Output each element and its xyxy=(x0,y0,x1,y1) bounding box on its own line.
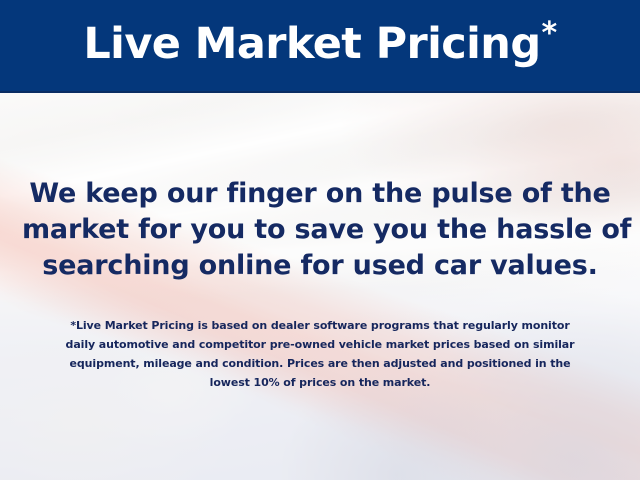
live-market-pricing-banner: Live Market Pricing* We keep our finger … xyxy=(0,0,640,480)
banner-title-asterisk: * xyxy=(542,16,557,51)
disclaimer-line-3: equipment, mileage and condition. Prices… xyxy=(26,354,614,373)
headline: We keep our finger on the pulse of the m… xyxy=(22,176,618,284)
banner-title: Live Market Pricing* xyxy=(83,23,556,68)
headline-line-2: market for you to save you the hassle of xyxy=(22,212,618,248)
disclaimer-line-4: lowest 10% of prices on the market. xyxy=(26,373,614,392)
banner-title-text: Live Market Pricing xyxy=(83,19,540,69)
headline-line-1: We keep our finger on the pulse of the xyxy=(22,176,618,212)
header-banner: Live Market Pricing* xyxy=(0,0,640,93)
headline-line-3: searching online for used car values. xyxy=(22,248,618,284)
disclaimer-line-1: *Live Market Pricing is based on dealer … xyxy=(26,316,614,335)
disclaimer: *Live Market Pricing is based on dealer … xyxy=(26,316,614,392)
disclaimer-line-2: daily automotive and competitor pre-owne… xyxy=(26,335,614,354)
